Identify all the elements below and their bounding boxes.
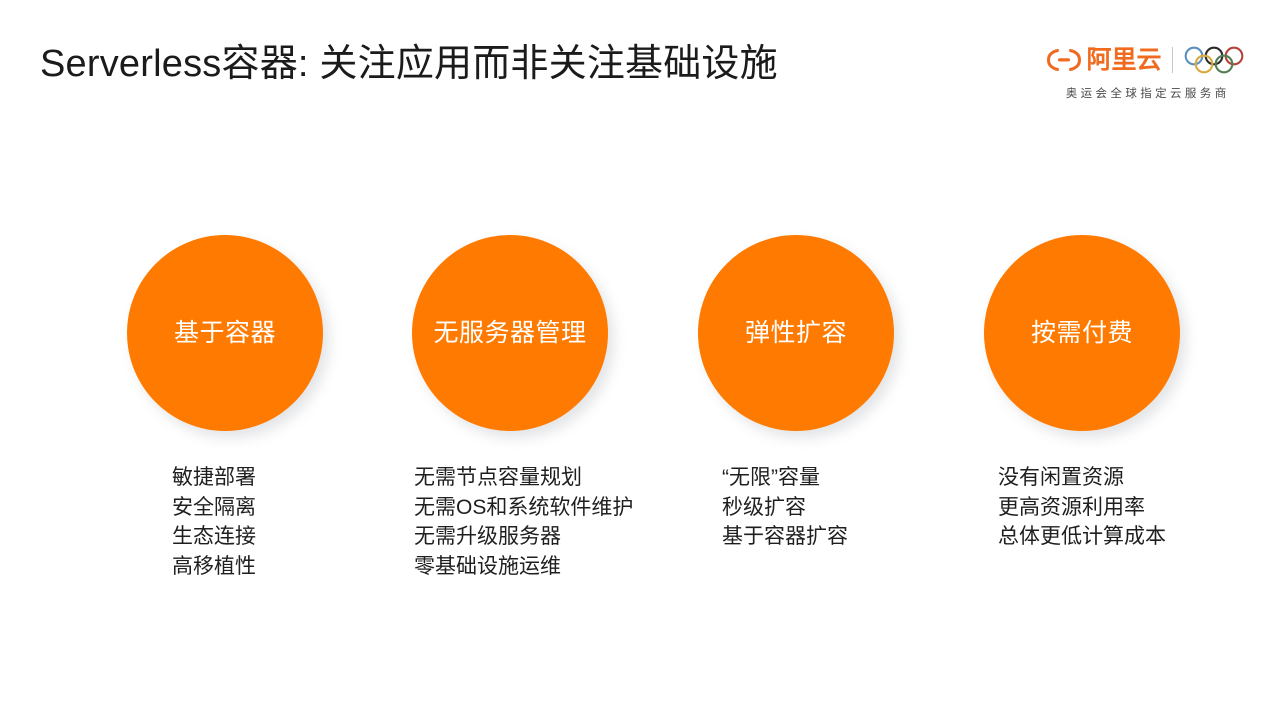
list-item: 无需升级服务器 (414, 522, 633, 552)
feature-bullet-list: “无限”容量 秒级扩容 基于容器扩容 (722, 463, 894, 552)
feature-bubble[interactable]: 按需付费 (984, 235, 1180, 431)
feature-bubble-label: 基于容器 (174, 318, 276, 348)
list-item: 敏捷部署 (172, 463, 323, 493)
list-item: 高移植性 (172, 552, 323, 582)
feature-bullet-list: 敏捷部署 安全隔离 生态连接 高移植性 (172, 463, 323, 581)
list-item: 基于容器扩容 (722, 522, 894, 552)
list-item: 无需OS和系统软件维护 (414, 493, 633, 523)
feature-column: 按需付费 没有闲置资源 更高资源利用率 总体更低计算成本 (984, 235, 1180, 552)
list-item: “无限”容量 (722, 463, 894, 493)
feature-bubble-label: 无服务器管理 (433, 318, 586, 348)
feature-column: 弹性扩容 “无限”容量 秒级扩容 基于容器扩容 (698, 235, 894, 552)
feature-columns: 基于容器 敏捷部署 安全隔离 生态连接 高移植性 无服务器管理 无需节点容量规划… (0, 0, 1280, 720)
feature-bubble[interactable]: 基于容器 (127, 235, 323, 431)
feature-bullet-list: 没有闲置资源 更高资源利用率 总体更低计算成本 (998, 463, 1180, 552)
list-item: 更高资源利用率 (998, 493, 1180, 523)
feature-bubble-label: 弹性扩容 (745, 318, 847, 348)
feature-column: 基于容器 敏捷部署 安全隔离 生态连接 高移植性 (127, 235, 323, 581)
list-item: 无需节点容量规划 (414, 463, 633, 493)
list-item: 零基础设施运维 (414, 552, 633, 582)
feature-bubble-label: 按需付费 (1031, 318, 1133, 348)
list-item: 生态连接 (172, 522, 323, 552)
list-item: 总体更低计算成本 (998, 522, 1180, 552)
feature-column: 无服务器管理 无需节点容量规划 无需OS和系统软件维护 无需升级服务器 零基础设… (412, 235, 633, 581)
list-item: 安全隔离 (172, 493, 323, 523)
list-item: 没有闲置资源 (998, 463, 1180, 493)
feature-bubble[interactable]: 弹性扩容 (698, 235, 894, 431)
list-item: 秒级扩容 (722, 493, 894, 523)
feature-bubble[interactable]: 无服务器管理 (412, 235, 608, 431)
feature-bullet-list: 无需节点容量规划 无需OS和系统软件维护 无需升级服务器 零基础设施运维 (414, 463, 633, 581)
